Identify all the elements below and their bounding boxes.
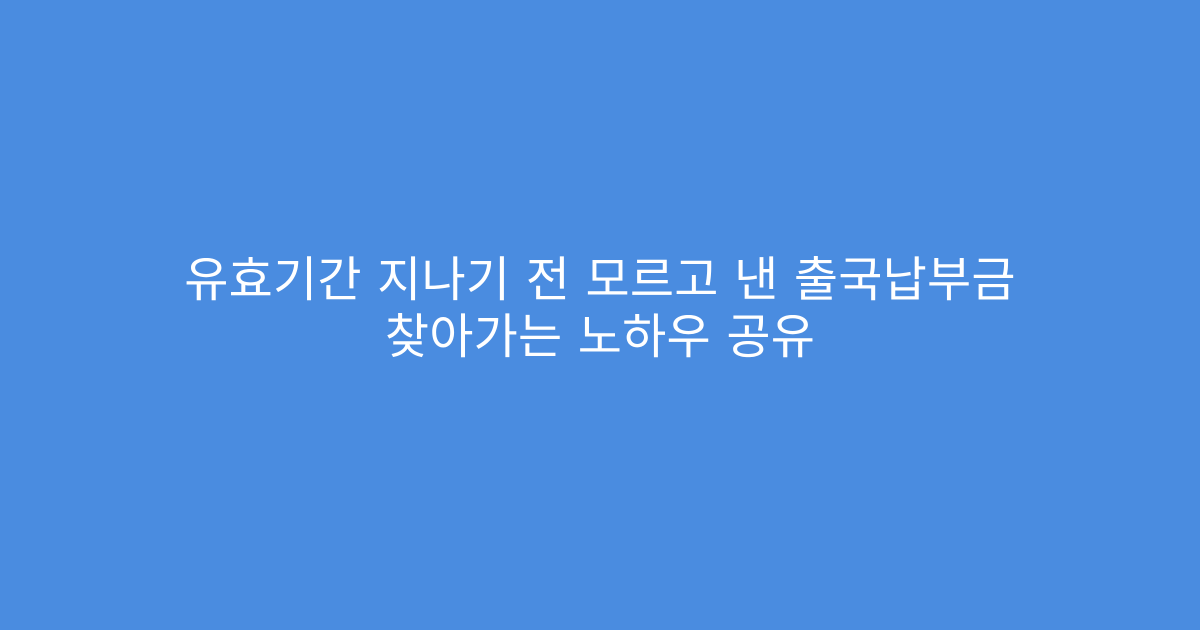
headline-line-1: 유효기간 지나기 전 모르고 낸 출국납부금 <box>60 252 1140 309</box>
headline-line-2: 찾아가는 노하우 공유 <box>60 309 1140 366</box>
social-share-card: 유효기간 지나기 전 모르고 낸 출국납부금 찾아가는 노하우 공유 <box>0 0 1200 630</box>
headline-block: 유효기간 지나기 전 모르고 낸 출국납부금 찾아가는 노하우 공유 <box>0 252 1200 366</box>
